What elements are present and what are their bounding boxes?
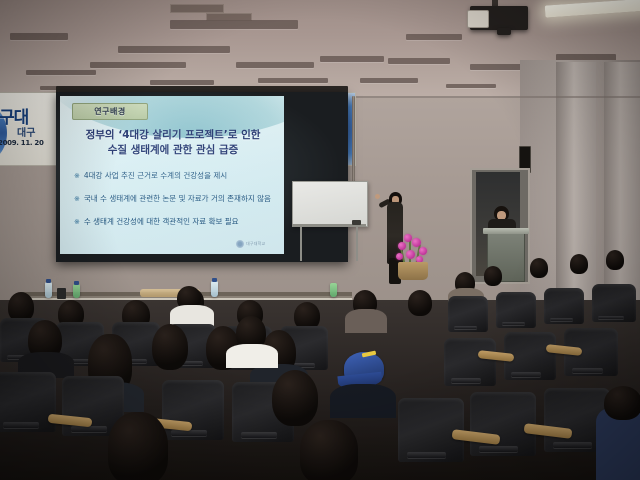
presenter-hand [375, 194, 380, 199]
seat-detail [572, 368, 603, 372]
audience-head [570, 254, 588, 274]
ceiling-panel [360, 78, 418, 83]
ceiling-panel [26, 70, 96, 75]
slide-bullet-text: 4대강 사업 추진 근거로 수계의 건강성을 제시 [84, 171, 227, 181]
green-bottle [73, 284, 80, 298]
audience-head [604, 386, 640, 420]
audience-head [152, 324, 188, 370]
whiteboard-marker [352, 220, 361, 225]
ceiling-panel [236, 62, 314, 68]
seat-detail [502, 322, 525, 325]
university-logo-icon [236, 240, 244, 248]
slide-section-badge: 연구배경 [72, 103, 148, 120]
seat-detail [553, 442, 591, 448]
slide-bullet-item: ※ 국내 수 생태계에 관련한 논문 및 자료가 거의 존재하지 않음 [74, 194, 274, 204]
slide-bullet-text: 국내 수 생태계에 관련한 논문 및 자료가 거의 존재하지 않음 [84, 194, 271, 204]
seat-detail [598, 316, 624, 319]
orchid-bloom [398, 242, 406, 250]
bottle-cap [46, 279, 51, 283]
ceiling-panel [320, 56, 384, 62]
audience-shoulders [345, 309, 387, 333]
projector-bracket [497, 28, 511, 35]
seat-detail [3, 422, 39, 427]
water-bottle [211, 281, 218, 297]
slide-heading: 정부의 ‘4대강 살리기 프로젝트’로 인한 수질 생태계에 관한 관심 급증 [70, 128, 276, 158]
ceiling-panel [10, 33, 68, 40]
bottle-cap [212, 278, 217, 282]
seat[interactable] [544, 288, 584, 324]
bottle-cap [74, 281, 79, 285]
ceiling-panel [406, 34, 462, 40]
slide-bullet-item: ※ 수 생태계 건강성에 대한 객관적인 자료 확보 필요 [74, 217, 274, 227]
banner-left-sub-text: 대구 [17, 124, 35, 139]
audience-head [484, 266, 502, 286]
whiteboard-leg [300, 227, 302, 261]
orchid-bloom [406, 250, 415, 259]
ceiling-panel [170, 20, 298, 29]
table-object [57, 288, 66, 299]
seat[interactable] [162, 380, 224, 440]
seat-detail [71, 426, 107, 431]
audience-head [408, 290, 432, 316]
ceiling-panel [446, 84, 496, 88]
audience-shoulders [330, 384, 396, 418]
lecture-hall-photo: 구대 대구 2009. 11. 20 발표회 표회 대구대학교 환경공학과 연구… [0, 0, 640, 480]
seat-detail [479, 446, 517, 452]
lectern-top [483, 228, 529, 234]
bullet-marker-icon: ※ [74, 194, 80, 204]
seat[interactable] [592, 284, 636, 322]
audience-head [300, 420, 358, 480]
slide-bullet-text: 수 생태계 건강성에 대한 객관적인 자료 확보 필요 [84, 217, 239, 227]
seat-detail [407, 452, 445, 458]
orchid-bloom [419, 247, 427, 255]
projector-lens [467, 10, 489, 28]
seat-detail [454, 326, 477, 329]
ceiling-panel [258, 78, 328, 83]
audience-head [606, 250, 624, 270]
ceiling-panel [150, 80, 214, 85]
ceiling-vent [170, 4, 224, 13]
bullet-marker-icon: ※ [74, 217, 80, 227]
ceiling-panel [388, 58, 450, 64]
projected-slide: 연구배경 정부의 ‘4대강 살리기 프로젝트’로 인한 수질 생태계에 관한 관… [60, 96, 284, 254]
audience-shoulders [226, 344, 278, 368]
slide-bullet-item: ※ 4대강 사업 추진 근거로 수계의 건강성을 제시 [74, 171, 274, 181]
audience-head [108, 412, 168, 480]
seat[interactable] [0, 372, 56, 432]
water-bottle [45, 282, 52, 298]
green-bottle [330, 283, 337, 297]
wall-pillar [604, 62, 640, 312]
orchid-bloom [412, 238, 421, 247]
slide-heading-line2: 수질 생태계에 관한 관심 급증 [70, 143, 276, 158]
seat-detail [241, 432, 277, 437]
seat-detail [511, 372, 541, 376]
slide-heading-line1: 정부의 ‘4대강 살리기 프로젝트’로 인한 [70, 128, 276, 143]
seat-detail [451, 378, 481, 382]
audience-head [272, 370, 318, 426]
wall-pillar [556, 62, 596, 312]
slide-footer-logo: 대구대학교 [236, 239, 276, 248]
seat-detail [171, 430, 207, 435]
plant-pot [398, 262, 428, 280]
bullet-marker-icon: ※ [74, 171, 80, 181]
whiteboard-leg [356, 227, 358, 261]
ceiling-panel [90, 62, 186, 68]
orchid-bloom [396, 253, 403, 260]
audience-head [530, 258, 548, 278]
ceiling-panel [118, 46, 230, 53]
banner-left-date: 2009. 11. 20 [0, 139, 44, 147]
orchid-bloom [404, 234, 412, 242]
banner-left: 구대 대구 2009. 11. 20 [0, 92, 64, 166]
slide-logo-text: 대구대학교 [246, 241, 265, 247]
seat[interactable] [444, 338, 496, 386]
seat[interactable] [496, 292, 536, 328]
seat[interactable] [448, 296, 488, 332]
seat-detail [550, 318, 573, 321]
slide-bullet-list: ※ 4대강 사업 추진 근거로 수계의 건강성을 제시 ※ 국내 수 생태계에 … [74, 171, 274, 240]
